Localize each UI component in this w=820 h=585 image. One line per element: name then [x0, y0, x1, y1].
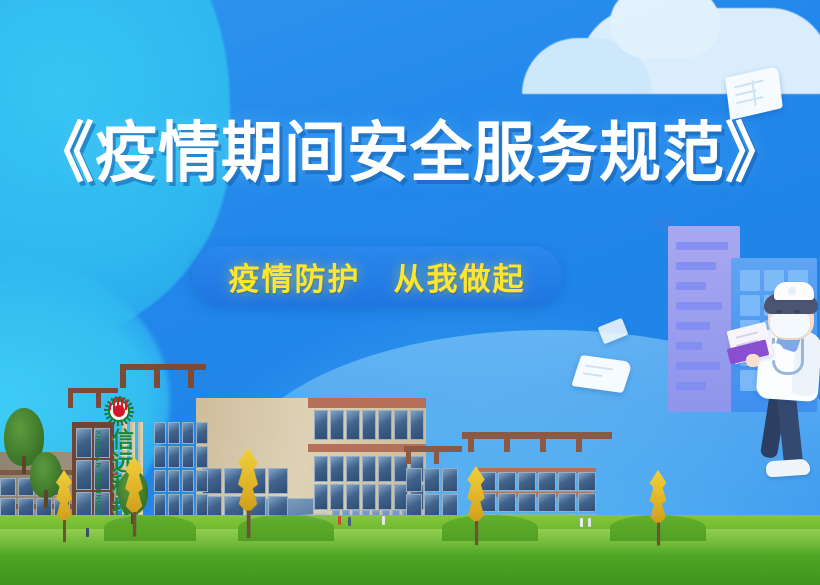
illustrated-building-purple — [668, 226, 740, 412]
person-figure — [86, 528, 89, 537]
person-figure — [588, 518, 591, 527]
poster-subtitle: 疫情防护 从我做起 — [192, 246, 562, 306]
tree-round — [30, 452, 62, 498]
lawn-mound — [238, 515, 334, 541]
title-container: 《疫情期间安全服务规范》 — [0, 118, 820, 188]
person-figure — [338, 516, 341, 525]
lawn-mound — [104, 515, 196, 541]
company-logo-icon — [104, 396, 134, 426]
lawn-mound — [442, 515, 538, 541]
poster-title: 《疫情期间安全服务规范》 — [32, 116, 788, 190]
banner-poster: XINYUAN TECHNOLOGY 信远科技 — [0, 0, 820, 585]
cloud-shape — [580, 8, 820, 94]
person-figure — [382, 516, 385, 525]
person-figure — [348, 517, 351, 526]
doctor-illustration — [744, 292, 820, 542]
person-figure — [580, 518, 583, 527]
subtitle-pill: 疫情防护 从我做起 — [192, 246, 562, 306]
